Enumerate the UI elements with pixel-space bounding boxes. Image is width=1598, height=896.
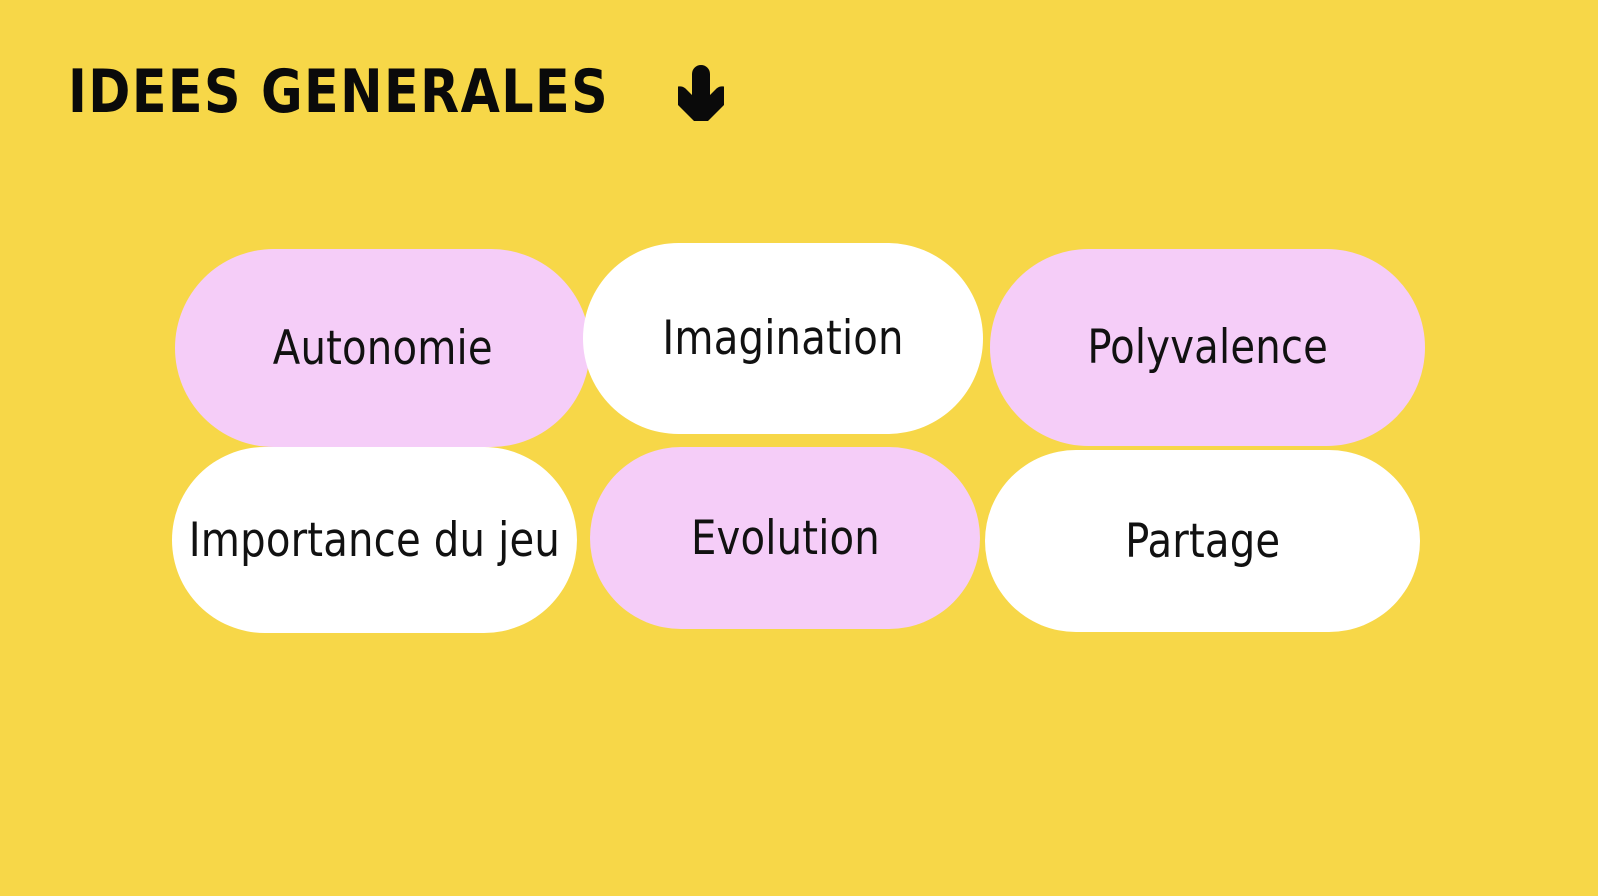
idea-pill-importance-du-jeu[interactable]: Importance du jeu bbox=[172, 447, 577, 633]
idea-pill-label: Imagination bbox=[662, 315, 903, 362]
idea-pill-label: Evolution bbox=[691, 515, 880, 562]
idea-pill-label: Autonomie bbox=[272, 325, 492, 372]
slide-canvas: IDEES GENERALES Autonomie Imagination Po… bbox=[0, 0, 1598, 896]
idea-pill-label: Partage bbox=[1125, 518, 1280, 565]
idea-pill-autonomie[interactable]: Autonomie bbox=[175, 249, 590, 447]
idea-pill-imagination[interactable]: Imagination bbox=[583, 243, 983, 434]
idea-pill-label: Importance du jeu bbox=[189, 517, 560, 564]
idea-pill-partage[interactable]: Partage bbox=[985, 450, 1420, 632]
idea-pill-polyvalence[interactable]: Polyvalence bbox=[990, 249, 1425, 446]
idea-pill-grid: Autonomie Imagination Polyvalence Import… bbox=[0, 0, 1598, 896]
idea-pill-evolution[interactable]: Evolution bbox=[590, 447, 980, 629]
idea-pill-label: Polyvalence bbox=[1087, 324, 1328, 371]
